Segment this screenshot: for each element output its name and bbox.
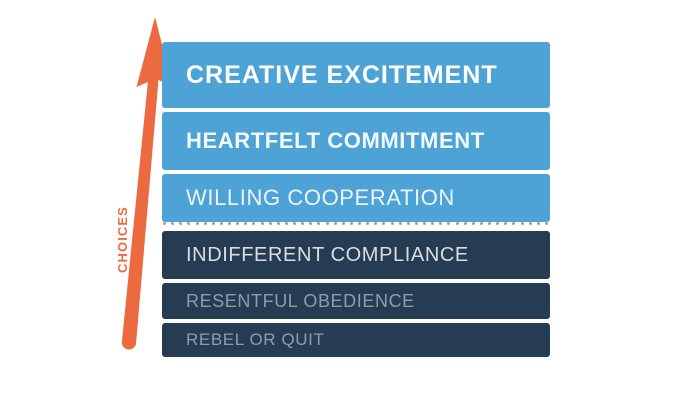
divider-dot [447, 222, 450, 225]
divider-dot [512, 222, 515, 225]
divider-dot [236, 222, 239, 225]
divider-dot [179, 222, 182, 225]
divider-dot [163, 222, 166, 225]
divider-dot [285, 222, 288, 225]
level-label: WILLING COOPERATION [186, 185, 455, 211]
divider-dot [204, 222, 207, 225]
divider-dot [171, 222, 174, 225]
divider-dot [537, 222, 540, 225]
divider-dot [228, 222, 231, 225]
divider-dot [472, 222, 475, 225]
choices-axis-label: CHOICES [116, 153, 129, 273]
divider-dot [326, 222, 329, 225]
divider-dot [252, 222, 255, 225]
divider-dot [342, 222, 345, 225]
divider-dot [521, 222, 524, 225]
divider-dot [309, 222, 312, 225]
divider-dot [382, 222, 385, 225]
level-bar-resentful-obedience[interactable]: RESENTFUL OBEDIENCE [162, 283, 550, 319]
divider-dot [196, 222, 199, 225]
divider-dot [439, 222, 442, 225]
divider-dot [317, 222, 320, 225]
divider-dot [261, 222, 264, 225]
level-bar-willing-cooperation[interactable]: WILLING COOPERATION [162, 174, 550, 222]
divider-dot [220, 222, 223, 225]
divider-dot [269, 222, 272, 225]
divider-dot [431, 222, 434, 225]
divider-dot [366, 222, 369, 225]
divider-dot [423, 222, 426, 225]
divider-dot [187, 222, 190, 225]
divider-dot [545, 222, 548, 225]
divider-dot [407, 222, 410, 225]
divider-dot [334, 222, 337, 225]
divider-dot [480, 222, 483, 225]
divider-dot [293, 222, 296, 225]
level-label: HEARTFELT COMMITMENT [186, 128, 485, 154]
divider-dot [391, 222, 394, 225]
level-label: CREATIVE EXCITEMENT [186, 61, 498, 90]
level-label: RESENTFUL OBEDIENCE [186, 291, 415, 312]
divider-dot [488, 222, 491, 225]
level-bar-creative-excitement[interactable]: CREATIVE EXCITEMENT [162, 42, 550, 108]
divider-dot [301, 222, 304, 225]
divider-dot [350, 222, 353, 225]
divider-dot [374, 222, 377, 225]
divider-dot [244, 222, 247, 225]
divider-dot [415, 222, 418, 225]
divider-dot [399, 222, 402, 225]
divider-dot [358, 222, 361, 225]
level-bar-heartfelt-commitment[interactable]: HEARTFELT COMMITMENT [162, 112, 550, 170]
divider-dot [529, 222, 532, 225]
divider-dot [277, 222, 280, 225]
level-bar-rebel-or-quit[interactable]: REBEL OR QUIT [162, 323, 550, 357]
divider-dot [456, 222, 459, 225]
dotted-divider [161, 222, 551, 227]
divider-dot [212, 222, 215, 225]
level-label: REBEL OR QUIT [186, 330, 324, 350]
divider-dot [496, 222, 499, 225]
diagram-canvas: CHOICES CREATIVE EXCITEMENT HEARTFELT CO… [0, 0, 700, 401]
level-bar-indifferent-compliance[interactable]: INDIFFERENT COMPLIANCE [162, 231, 550, 279]
divider-dot [504, 222, 507, 225]
divider-dot [464, 222, 467, 225]
level-label: INDIFFERENT COMPLIANCE [186, 244, 469, 267]
